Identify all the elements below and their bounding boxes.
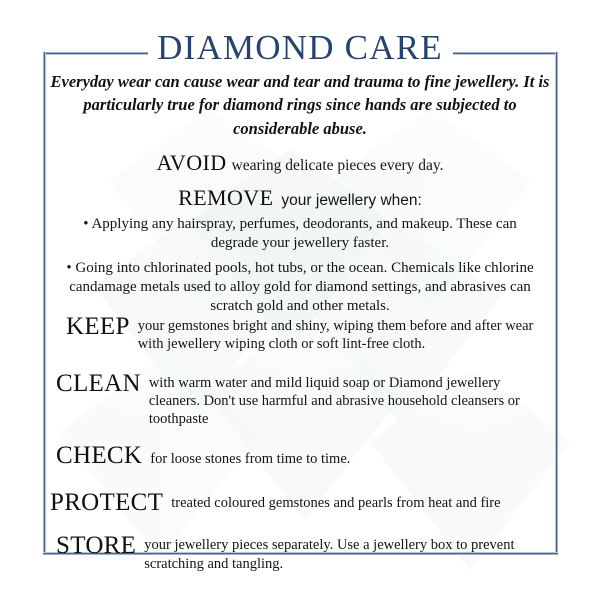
poster-content: DIAMOND CARE Everyday wear can cause wea… [0,0,600,600]
check-text: for loose stones from time to time. [150,442,552,468]
avoid-line: AVOIDwearing delicate pieces every day. [48,150,552,176]
page-title: DIAMOND CARE [0,30,600,65]
avoid-keyword: AVOID [156,150,226,175]
protect-text: treated coloured gemstones and pearls fr… [171,489,501,512]
clean-keyword: CLEAN [56,370,149,397]
remove-line: REMOVEyour jewellery when: [48,185,552,211]
remove-keyword: REMOVE [178,185,273,210]
keep-text: your gemstones bright and shiny, wiping … [138,313,538,354]
care-row-clean: CLEAN with warm water and mild liquid so… [56,370,552,429]
bullet-text: Going into chlorinated pools, hot tubs, … [69,260,533,314]
remove-bullet-list: • Applying any hairspray, perfumes, deod… [48,215,552,321]
clean-text: with warm water and mild liquid soap or … [149,370,541,429]
store-text: your jewellery pieces separately. Use a … [144,532,536,573]
protect-keyword: PROTECT [50,489,171,516]
care-row-protect: PROTECT treated coloured gemstones and p… [50,489,552,516]
remove-text: your jewellery when: [273,192,421,209]
store-keyword: STORE [56,532,144,559]
care-row-keep: KEEP your gemstones bright and shiny, wi… [66,313,552,354]
bullet-marker: • [83,216,88,232]
diamond-care-poster: DIAMOND CARE Everyday wear can cause wea… [0,0,600,600]
bullet-text: Applying any hairspray, perfumes, deodor… [91,216,516,251]
avoid-text: wearing delicate pieces every day. [227,157,444,174]
list-item: • Going into chlorinated pools, hot tubs… [48,259,552,316]
care-row-check: CHECK for loose stones from time to time… [56,442,552,469]
care-row-store: STORE your jewellery pieces separately. … [56,532,552,573]
intro-paragraph: Everyday wear can cause wear and tear an… [48,70,552,140]
check-keyword: CHECK [56,442,150,469]
list-item: • Applying any hairspray, perfumes, deod… [48,215,552,253]
care-instruction-list: KEEP your gemstones bright and shiny, wi… [48,313,552,573]
bullet-marker: • [66,260,71,276]
keep-keyword: KEEP [66,313,138,340]
